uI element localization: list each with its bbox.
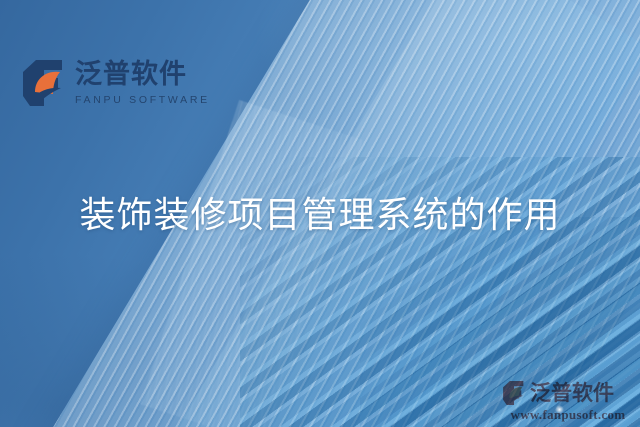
brand-name-cn: 泛普软件: [75, 61, 210, 88]
fanpu-hexagon-sail-logo-icon: [22, 58, 66, 108]
brand-name-en: FANPU SOFTWARE: [75, 95, 210, 106]
diagonal-beams-deep-shape: [360, 217, 640, 427]
brand-wordmark: 泛普软件 FANPU SOFTWARE: [75, 61, 210, 106]
brand-logo: 泛普软件 FANPU SOFTWARE: [22, 58, 210, 108]
page-title: 装饰装修项目管理系统的作用: [0, 186, 640, 238]
promo-banner: 泛普软件 FANPU SOFTWARE 装饰装修项目管理系统的作用 泛普软件 w…: [0, 0, 640, 427]
glass-glint-highlight: [555, 405, 564, 414]
